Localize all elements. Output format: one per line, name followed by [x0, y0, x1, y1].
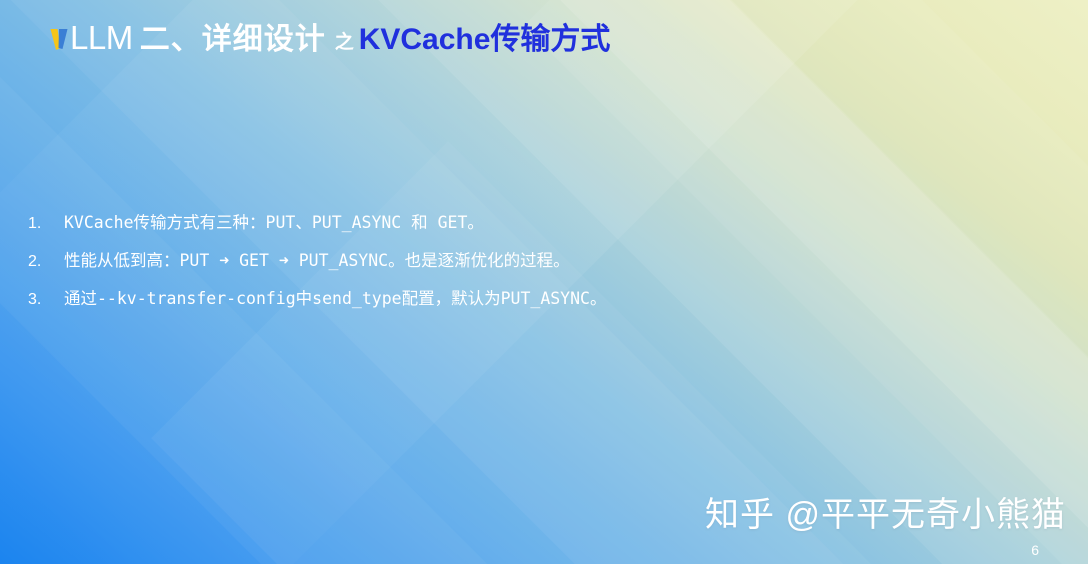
list-item-number: 1.: [28, 215, 64, 233]
slide-canvas: LLM 二、详细设计 之 KVCache传输方式 1. KVCache传输方式有…: [0, 0, 1088, 564]
page-number: 6: [1031, 542, 1039, 558]
title-brand: LLM: [70, 19, 133, 57]
list-item-number: 2.: [28, 253, 64, 271]
zhihu-watermark: 知乎 @平平无奇小熊猫: [705, 487, 1066, 536]
title-section: 二、详细设计: [140, 14, 326, 58]
list-item-text: 通过--kv-transfer-config中send_type配置，默认为PU…: [64, 285, 607, 309]
title-topic: KVCache传输方式: [359, 14, 611, 58]
title-connector: 之: [335, 27, 354, 54]
slide-title: LLM 二、详细设计 之 KVCache传输方式: [50, 14, 610, 58]
list-item-text: KVCache传输方式有三种：PUT、PUT_ASYNC 和 GET。: [64, 209, 484, 233]
diagonal-band-decoration: [0, 308, 787, 564]
list-item-number: 3.: [28, 291, 64, 309]
diagonal-band-decoration: [524, 0, 1088, 564]
list-item: 2. 性能从低到高：PUT ➜ GET ➜ PUT_ASYNC。也是逐渐优化的过…: [28, 247, 607, 285]
list-item: 1. KVCache传输方式有三种：PUT、PUT_ASYNC 和 GET。: [28, 209, 607, 247]
list-item-text: 性能从低到高：PUT ➜ GET ➜ PUT_ASYNC。也是逐渐优化的过程。: [64, 247, 570, 271]
bullet-list: 1. KVCache传输方式有三种：PUT、PUT_ASYNC 和 GET。 2…: [28, 209, 607, 323]
list-item: 3. 通过--kv-transfer-config中send_type配置，默认…: [28, 285, 607, 323]
vllm-logo-icon: [50, 26, 69, 52]
